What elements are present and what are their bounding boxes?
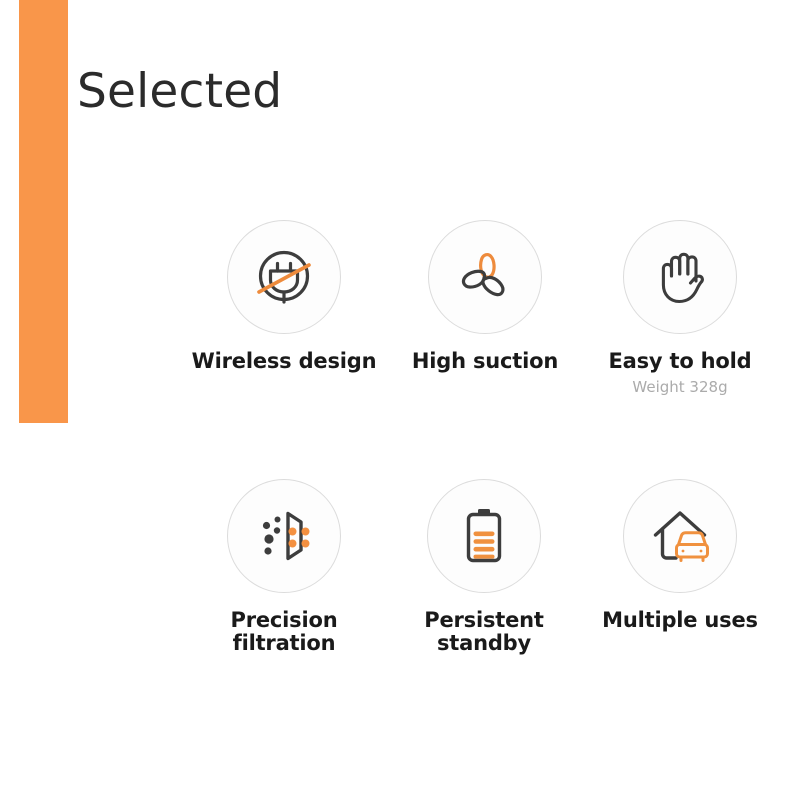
feature-item-high-suction[interactable]: High suction xyxy=(385,220,585,373)
icon-circle xyxy=(427,479,541,593)
icon-circle xyxy=(227,479,341,593)
feature-label: Wireless design xyxy=(184,350,384,373)
feature-label: Multiple uses xyxy=(580,609,780,632)
filter-particles-icon xyxy=(247,499,321,573)
feature-item-easy-to-hold[interactable]: Easy to hold Weight 328g xyxy=(580,220,780,395)
feature-label: Easy to hold xyxy=(580,350,780,373)
feature-grid: Wireless design High suction xyxy=(0,0,800,800)
icon-circle xyxy=(623,479,737,593)
feature-item-persistent-standby[interactable]: Persistent standby xyxy=(384,479,584,654)
house-car-icon xyxy=(643,499,717,573)
product-feature-panel: Selected Wireless design xyxy=(0,0,800,800)
feature-label: High suction xyxy=(385,350,585,373)
feature-item-multiple-uses[interactable]: Multiple uses xyxy=(580,479,780,632)
feature-sublabel: Weight 328g xyxy=(580,379,780,396)
feature-item-precision-filtration[interactable]: Precision filtration xyxy=(184,479,384,654)
feature-item-wireless-design[interactable]: Wireless design xyxy=(184,220,384,373)
feature-label: Precision filtration xyxy=(184,609,384,654)
icon-circle xyxy=(428,220,542,334)
fan-blades-icon xyxy=(448,240,522,314)
icon-circle xyxy=(623,220,737,334)
open-hand-icon xyxy=(643,240,717,314)
battery-full-icon xyxy=(447,499,521,573)
feature-label: Persistent standby xyxy=(384,609,584,654)
plug-slash-icon xyxy=(247,240,321,314)
icon-circle xyxy=(227,220,341,334)
